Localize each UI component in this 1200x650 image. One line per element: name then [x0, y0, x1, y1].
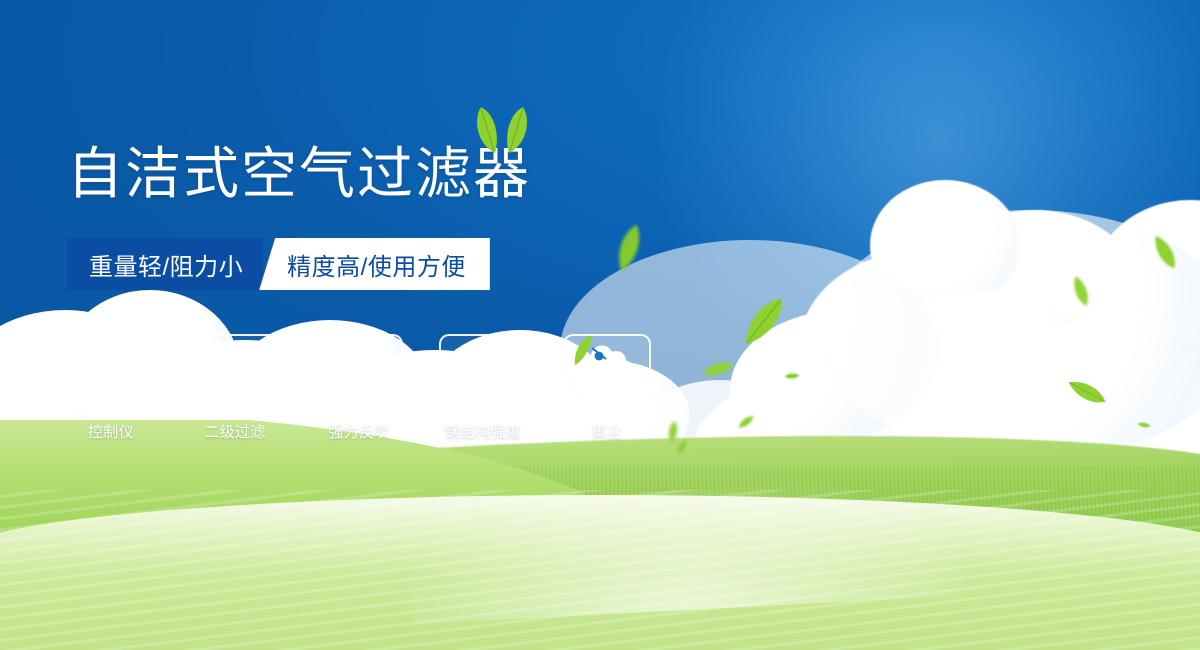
feature-label: 强力反吹 [328, 421, 390, 442]
page-title: 自洁式空气过滤器 [67, 146, 531, 202]
sprout-leaves-icon [465, 104, 535, 154]
feature-item[interactable]: 3〜8MM 钢板 钢结构强度 [439, 334, 527, 442]
air-cloud-icon [576, 342, 638, 382]
subtitle-bar: 重量轻/阻力小 精度高/使用方便 [67, 238, 490, 290]
feature-label: 钢结构强度 [444, 421, 521, 442]
feature-icon-box: Air [563, 334, 651, 410]
title-block: 自洁式空气过滤器 [67, 146, 531, 202]
feature-text-line1: 3〜8MM [452, 353, 514, 372]
subtitle-left: 重量轻/阻力小 [67, 238, 263, 290]
feature-text-line1: Air [598, 383, 616, 402]
feature-icon-box [315, 334, 403, 410]
feature-label: 二级过滤 [204, 421, 266, 442]
feature-text-line2: 钢板 [467, 372, 500, 391]
feature-item[interactable]: Air 集尘 [563, 334, 651, 442]
dial-on-label: NO [77, 367, 88, 376]
feature-text-line1: 0.6〜0.8 [204, 353, 267, 372]
dial-off-label: OFF [124, 391, 139, 400]
feature-label: 集尘 [592, 421, 623, 442]
feature-item[interactable]: 0.6〜0.8 MPA 二级过滤 [191, 334, 279, 442]
feature-list: NO OFF 控制仪 0.6〜0.8 MPA 二级过滤 [67, 334, 651, 442]
feature-icon-box: 3〜8MM 钢板 [439, 334, 527, 410]
feature-item[interactable]: NO OFF 控制仪 [67, 334, 155, 442]
subtitle-right: 精度高/使用方便 [259, 238, 490, 290]
feature-text-line2: MPA [218, 372, 252, 391]
feature-label: 控制仪 [88, 421, 134, 442]
feature-item[interactable]: 强力反吹 [315, 334, 403, 442]
filter-cartridge-icon [330, 342, 388, 402]
product-banner: 自洁式空气过滤器 重量轻/阻力小 精度高/使用方便 [0, 0, 1200, 650]
feature-icon-box: 0.6〜0.8 MPA [191, 334, 279, 410]
feature-icon-box: NO OFF [67, 334, 155, 410]
control-dial-icon: NO OFF [74, 340, 148, 404]
